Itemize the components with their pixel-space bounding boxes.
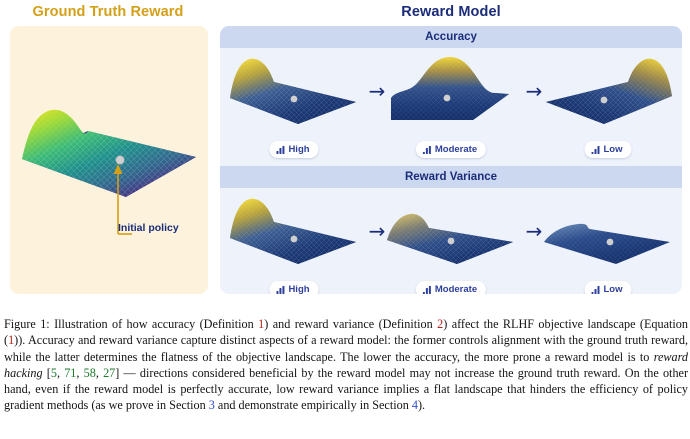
caption-text: [ [43,366,51,380]
initial-policy-dot [444,95,451,102]
badge-accuracy-moderate[interactable]: Moderate [416,141,486,158]
badge-variance-low[interactable]: Low [585,281,632,294]
initial-policy-dot [291,236,298,243]
badge-variance-high[interactable]: High [269,281,318,294]
surface-plot-variance-high [224,190,364,272]
badge-label: High [288,144,309,155]
caption-text: , [96,366,103,380]
variance-cell-high: High [224,188,364,294]
citation-58[interactable]: 58 [84,366,96,380]
badge-label: Moderate [435,284,477,294]
initial-policy-leader-line [20,146,208,256]
badge-variance-moderate[interactable]: Moderate [416,281,486,294]
variance-cell-moderate: Moderate [381,188,521,294]
caption-text: , [76,366,83,380]
reward-variance-row: High → [220,188,682,294]
bar-chart-icon [592,146,600,154]
initial-policy-dot [601,97,608,104]
badge-label: High [288,284,309,294]
bar-chart-icon [592,286,600,294]
badge-label: Low [604,284,623,294]
accuracy-row: High → [220,48,682,166]
section-header-reward-variance: Reward Variance [220,166,682,188]
bar-chart-icon [423,146,431,154]
surface-plot-accuracy-low [538,50,678,132]
badge-label: Moderate [435,144,477,155]
accuracy-cell-low: Low [538,48,678,166]
ground-truth-panel: Initial policy [10,26,208,294]
badge-label: Low [604,144,623,155]
bar-chart-icon [276,146,284,154]
surface-plot-variance-moderate [381,190,521,272]
caption-text: ) and reward variance (Definition [264,317,437,331]
caption-text: ). [418,398,425,412]
reward-model-title: Reward Model [220,4,682,20]
bar-chart-icon [276,286,284,294]
bar-chart-icon [423,286,431,294]
surface-plot-accuracy-high [224,50,364,132]
caption-text: Illustration of how accuracy (Definition [50,317,258,331]
variance-cell-low: Low [538,188,678,294]
ground-truth-title: Ground Truth Reward [8,4,208,20]
caption-figure-label: Figure 1: [4,317,50,331]
figure-caption: Figure 1: Illustration of how accuracy (… [4,316,688,414]
initial-policy-label: Initial policy [118,222,179,234]
badge-accuracy-high[interactable]: High [269,141,318,158]
initial-policy-dot [607,239,614,246]
citation-27[interactable]: 27 [103,366,115,380]
accuracy-cell-high: High [224,48,364,166]
figure-container: Ground Truth Reward Reward Model [0,0,690,439]
surface-plot-accuracy-moderate [381,50,521,132]
badge-accuracy-low[interactable]: Low [585,141,632,158]
initial-policy-dot [448,238,455,245]
citation-71[interactable]: 71 [64,366,76,380]
caption-text: )). Accuracy and reward variance capture… [4,333,688,363]
section-header-accuracy: Accuracy [220,26,682,48]
surface-plot-variance-low [538,190,678,272]
initial-policy-dot [291,96,298,103]
caption-text: and demonstrate empirically in Section [215,398,412,412]
reward-model-panel: Accuracy [220,26,682,294]
accuracy-cell-moderate: Moderate [381,48,521,166]
